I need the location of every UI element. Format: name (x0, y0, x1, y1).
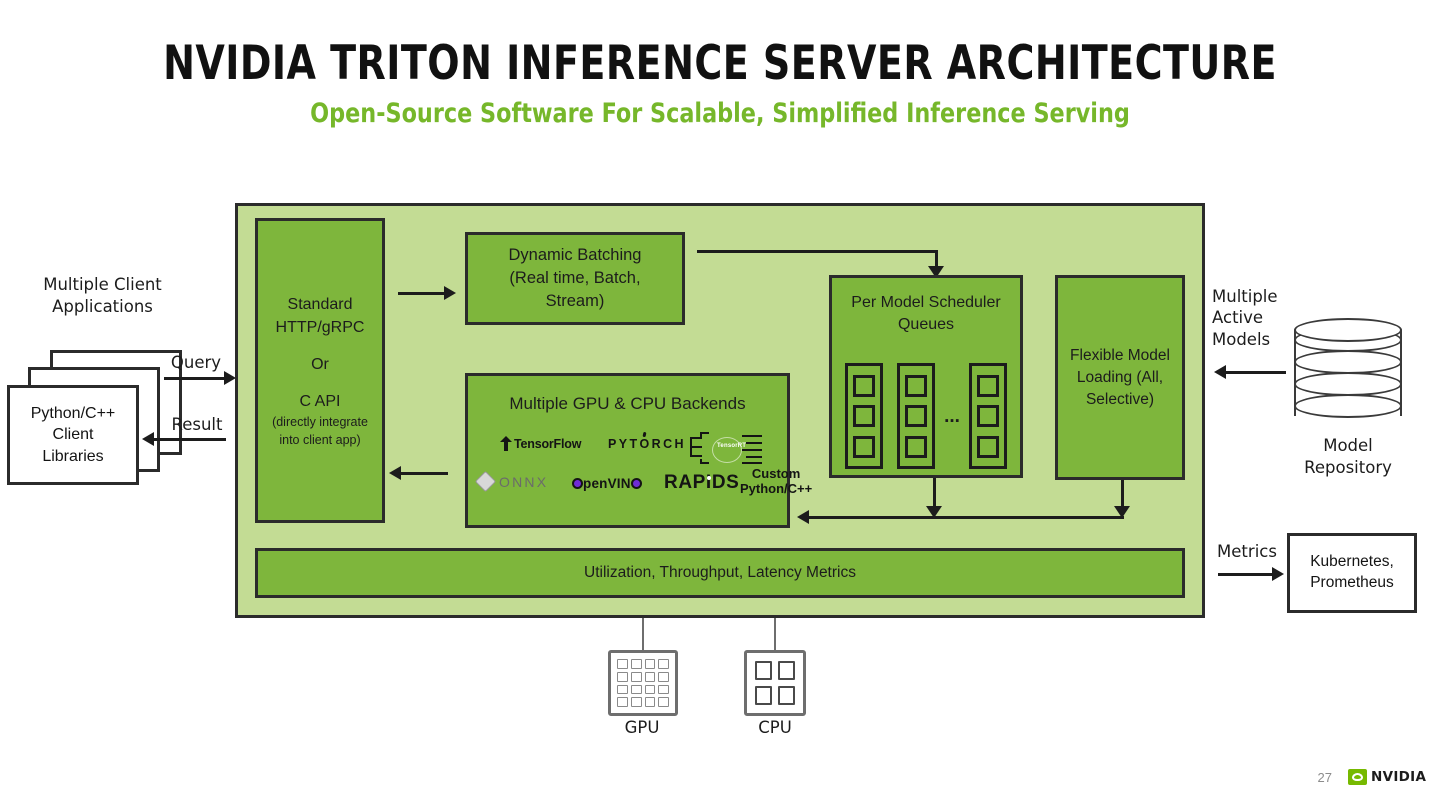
active-models-line3: Models (1212, 329, 1290, 350)
custom-label-line2: Python/C++ (740, 481, 812, 496)
api-line3: Or (311, 353, 329, 376)
metrics-bar-label: Utilization, Throughput, Latency Metrics (584, 564, 856, 582)
repo-line2: Repository (1282, 457, 1414, 479)
backends-box[interactable]: Multiple GPU & CPU Backends TensorFlow P… (465, 373, 790, 528)
queue-column (897, 363, 935, 469)
page-subtitle: Open-Source Software For Scalable, Simpl… (58, 98, 1383, 129)
openvino-label: penVIN (583, 476, 631, 491)
api-note-line2: into client app) (279, 433, 360, 449)
api-to-batching-arrow-head (444, 286, 456, 300)
api-note-line1: (directly integrate (272, 415, 368, 431)
clients-label-line1: Multiple Client (20, 274, 185, 296)
nvidia-logo: NVIDIA (1348, 768, 1426, 786)
queue-column (969, 363, 1007, 469)
flexible-line3: Selective) (1086, 389, 1154, 411)
api-line2: HTTP/gRPC (276, 316, 365, 339)
openvino-dot-icon (572, 478, 583, 489)
tensorrt-logo: TensorRT (690, 432, 765, 466)
tensorflow-logo: TensorFlow (500, 436, 581, 451)
active-models-line1: Multiple (1212, 286, 1290, 307)
rapids-logo: RAPIDS (664, 472, 739, 494)
model-repository-label: Model Repository (1282, 435, 1414, 479)
per-model-scheduler-queues-box[interactable]: Per Model Scheduler Queues ... (829, 275, 1023, 478)
backends-title: Multiple GPU & CPU Backends (509, 394, 745, 414)
flexible-model-loading-box[interactable]: Flexible Model Loading (All, Selective) (1055, 275, 1185, 480)
tensorrt-label: TensorRT (717, 443, 746, 449)
db-top (1294, 318, 1402, 342)
flexible-line2: Loading (All, (1077, 367, 1163, 389)
db-ring-2 (1294, 350, 1402, 374)
client-card-line2: Client (31, 424, 116, 446)
scheduler-line1: Per Model Scheduler (851, 292, 1000, 314)
batching-line3: Stream) (546, 290, 605, 313)
scheduler-line2: Queues (898, 314, 954, 336)
onnx-gem-icon (475, 471, 496, 492)
metrics-export-label: Metrics (1212, 542, 1282, 561)
gpu-label: GPU (600, 718, 684, 737)
pytorch-label: PYTORCH (608, 437, 686, 451)
api-line4: C API (300, 390, 341, 413)
slide-canvas: NVIDIA TRITON INFERENCE SERVER ARCHITECT… (0, 0, 1440, 810)
result-arrow-line (152, 438, 226, 441)
clients-label-line2: Applications (20, 296, 185, 318)
return-to-backends-arrow-head (797, 510, 809, 524)
client-api-box[interactable]: Standard HTTP/gRPC Or C API (directly in… (255, 218, 385, 523)
pytorch-logo: PYTORCH (608, 437, 686, 451)
model-repository-icon (1294, 318, 1402, 428)
queue-cell (905, 405, 927, 427)
queue-columns-row: ... (832, 361, 1020, 471)
tensorflow-label: TensorFlow (514, 437, 581, 451)
nvidia-wordmark: NVIDIA (1371, 769, 1426, 785)
query-arrow-line (164, 377, 226, 380)
cpu-label: CPU (733, 718, 817, 737)
backends-to-api-arrow-head (389, 466, 401, 480)
cpu-connector-line (774, 618, 776, 652)
result-label: Result (158, 415, 236, 434)
cpu-icon (744, 650, 806, 716)
dynamic-batching-box[interactable]: Dynamic Batching (Real time, Batch, Stre… (465, 232, 685, 325)
db-ring-4 (1294, 394, 1402, 418)
gpu-connector-line (642, 618, 644, 652)
custom-label-line1: Custom (740, 466, 812, 481)
queue-cell (977, 405, 999, 427)
queue-cell (977, 436, 999, 458)
multiple-client-applications-label: Multiple Client Applications (20, 274, 185, 319)
client-card-line1: Python/C++ (31, 403, 116, 425)
onnx-logo: ONNX (478, 474, 548, 490)
result-arrow-head (142, 432, 154, 446)
client-libraries-card[interactable]: Python/C++ Client Libraries (7, 385, 139, 485)
flexible-line1: Flexible Model (1070, 345, 1170, 367)
repo-line1: Model (1282, 435, 1414, 457)
batching-line2: (Real time, Batch, (509, 267, 640, 290)
batching-line1: Dynamic Batching (509, 244, 642, 267)
backend-logo-grid: TensorFlow PYTORCH (468, 432, 787, 522)
metrics-bar[interactable]: Utilization, Throughput, Latency Metrics (255, 548, 1185, 598)
k8s-line1: Kubernetes, (1310, 552, 1394, 573)
metrics-arrow-head (1272, 567, 1284, 581)
queue-cell (853, 436, 875, 458)
api-to-batching-line (398, 292, 446, 295)
queue-column (845, 363, 883, 469)
metrics-arrow-line (1218, 573, 1274, 576)
openvino-logo: penVIN (572, 476, 642, 491)
tensorflow-mark-icon (500, 436, 512, 451)
kubernetes-prometheus-box[interactable]: Kubernetes, Prometheus (1287, 533, 1417, 613)
queue-cell (905, 436, 927, 458)
queue-cell (977, 375, 999, 397)
api-line1: Standard (288, 293, 353, 316)
queue-cell (853, 375, 875, 397)
page-number: 27 (1296, 770, 1332, 785)
batching-to-scheduler-h-line (697, 250, 937, 253)
tensorrt-ring-icon (712, 437, 742, 463)
models-arrow-line (1224, 371, 1286, 374)
models-arrow-head (1214, 365, 1226, 379)
client-card-line3: Libraries (31, 446, 116, 468)
queue-cell (853, 405, 875, 427)
return-to-backends-line (806, 516, 1124, 519)
nvidia-eye-icon (1348, 769, 1367, 785)
onnx-label: ONNX (499, 474, 548, 490)
gpu-icon (608, 650, 678, 716)
db-ring-3 (1294, 372, 1402, 396)
backends-to-api-line (398, 472, 448, 475)
query-label: Query (160, 353, 232, 372)
rapids-label: RAPIDS (664, 472, 739, 493)
multiple-active-models-label: Multiple Active Models (1212, 286, 1290, 350)
openvino-dot2-icon (631, 478, 642, 489)
queue-ellipsis: ... (935, 407, 969, 426)
k8s-line2: Prometheus (1310, 573, 1394, 594)
queue-cell (905, 375, 927, 397)
page-title: NVIDIA TRITON INFERENCE SERVER ARCHITECT… (72, 36, 1368, 91)
active-models-line2: Active (1212, 307, 1290, 328)
custom-backend-logo: Custom Python/C++ (740, 466, 812, 497)
